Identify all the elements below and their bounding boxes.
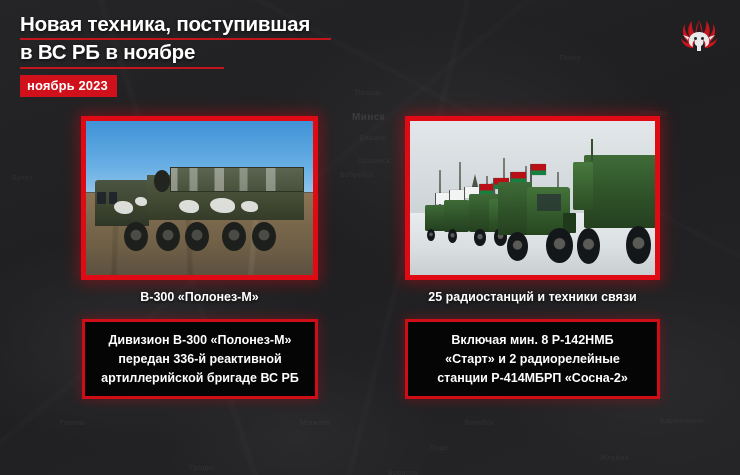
info-line: Дивизион В-300 «Полонез-М» [109,331,292,350]
truck-wheel [626,226,651,264]
map-place-label: Гомель [60,420,86,427]
truck-window [537,194,562,211]
camo-patch [179,200,200,213]
radio-shelter-body [584,155,655,228]
map-place-label: Барань [360,135,386,142]
map-place-label: Могилёв [300,420,331,427]
cab-window [97,192,106,204]
photo-polonez-launcher [81,116,318,280]
map-place-label: Лида [430,445,448,452]
wheel [156,222,180,252]
map-place-label: Жлобин [600,455,629,462]
truck-wheel [507,232,529,261]
wheel [252,222,276,252]
truck-wheel [546,228,573,262]
camo-patch [135,197,148,207]
map-place-label: Брест [12,175,33,182]
map-place-label: Гродно [190,465,215,472]
map-place-label: Пинск [560,55,581,62]
military-emblem-logo [676,12,722,56]
map-place-label: Бобруйск [340,172,373,179]
caption-radio: 25 радиостанций и техники связи [405,290,660,304]
camo-patch [241,201,258,212]
map-place-label: Оршанск [358,158,390,165]
wheel [185,222,209,252]
truck-foreground [498,176,581,262]
info-line: передан 336-й реактивной [118,350,281,369]
map-place-label: Витебск [465,420,494,427]
info-box-radio: Включая мин. 8 Р-142НМБ «Старт» и 2 ради… [405,319,660,399]
page-title-line-1: Новая техника, поступившая [20,12,440,37]
missile-pods [170,167,304,192]
camo-patch [114,201,133,214]
info-line: Включая мин. 8 Р-142НМБ [451,331,613,350]
photo-radio-trucks [405,116,660,280]
antenna-mast [591,139,593,161]
card-radio: 25 радиостанций и техники связи Включая … [405,116,660,280]
map-place-label: Барановичи [660,418,703,425]
info-line: «Старт» и 2 радиорелейные [445,350,620,369]
info-line: станции Р-414МБРП «Сосна-2» [437,369,628,388]
page-title-line-2: в ВС РБ в ноябре [20,40,440,65]
truck-wheel [577,228,600,263]
card-polonez: В-300 «Полонез-М» Дивизион В-300 «Полоне… [81,116,318,280]
title-underline-2 [20,67,224,69]
header: Новая техника, поступившая в ВС РБ в ноя… [20,12,440,97]
info-line: артиллерийской бригаде ВС РБ [101,369,299,388]
map-place-label: Минск [352,112,385,123]
polonez-launcher-vehicle [95,167,304,241]
date-badge: ноябрь 2023 [20,75,117,97]
info-box-polonez: Дивизион В-300 «Полонез-М» передан 336-й… [82,319,318,399]
truck-radio-shelter [572,155,655,266]
infographic-slide: ПолоцкМинскБараньОршанскБобруйскБрестГом… [0,0,740,475]
map-place-label: Борисов [388,470,418,475]
caption-polonez: В-300 «Полонез-М» [81,290,318,304]
